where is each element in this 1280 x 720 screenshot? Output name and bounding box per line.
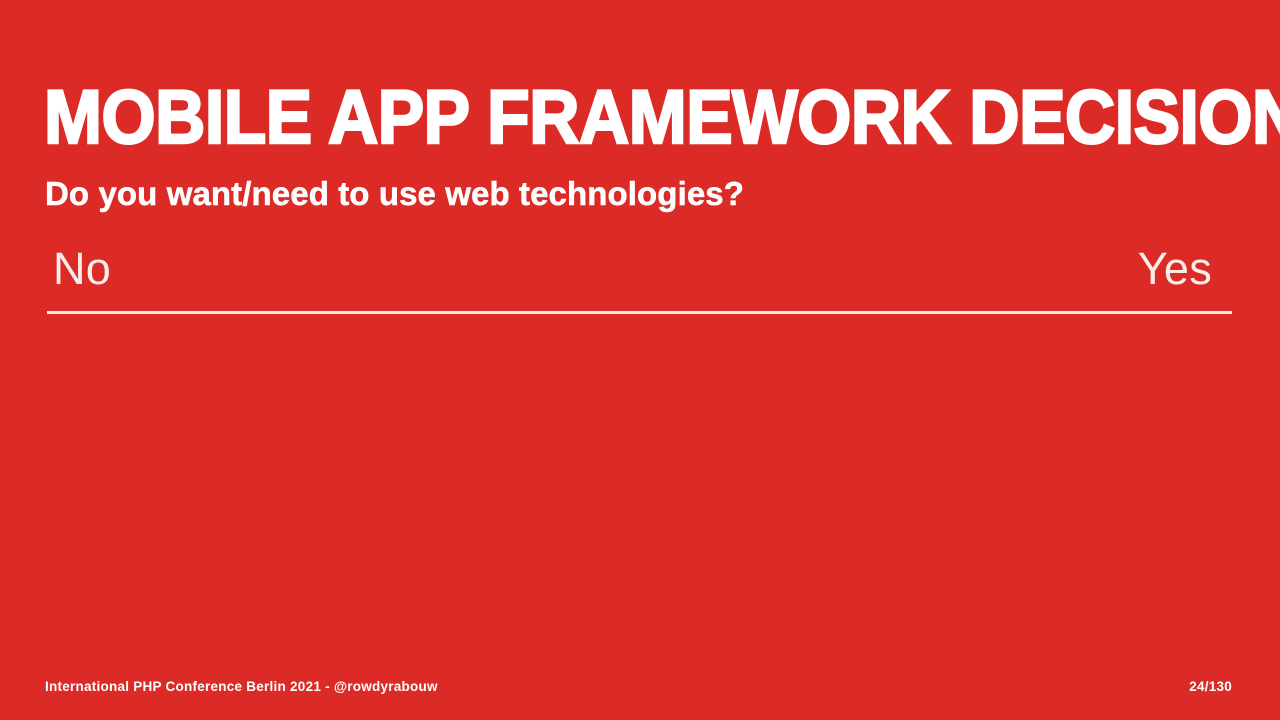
slide-footer: International PHP Conference Berlin 2021… [45, 678, 1232, 696]
option-no[interactable]: No [47, 243, 111, 295]
slide-content-area [47, 320, 1232, 650]
presentation-slide: MOBILE APP FRAMEWORK DECISION GUIDE Do y… [0, 0, 1280, 720]
decision-question: Do you want/need to use web technologies… [45, 172, 744, 216]
options-divider [47, 311, 1232, 314]
option-yes[interactable]: Yes [1138, 243, 1232, 295]
decision-options-row: No Yes [47, 243, 1232, 295]
page-title: MOBILE APP FRAMEWORK DECISION GUIDE [44, 75, 1135, 161]
footer-page-number: 24/130 [1189, 678, 1232, 696]
footer-credit: International PHP Conference Berlin 2021… [45, 678, 438, 696]
